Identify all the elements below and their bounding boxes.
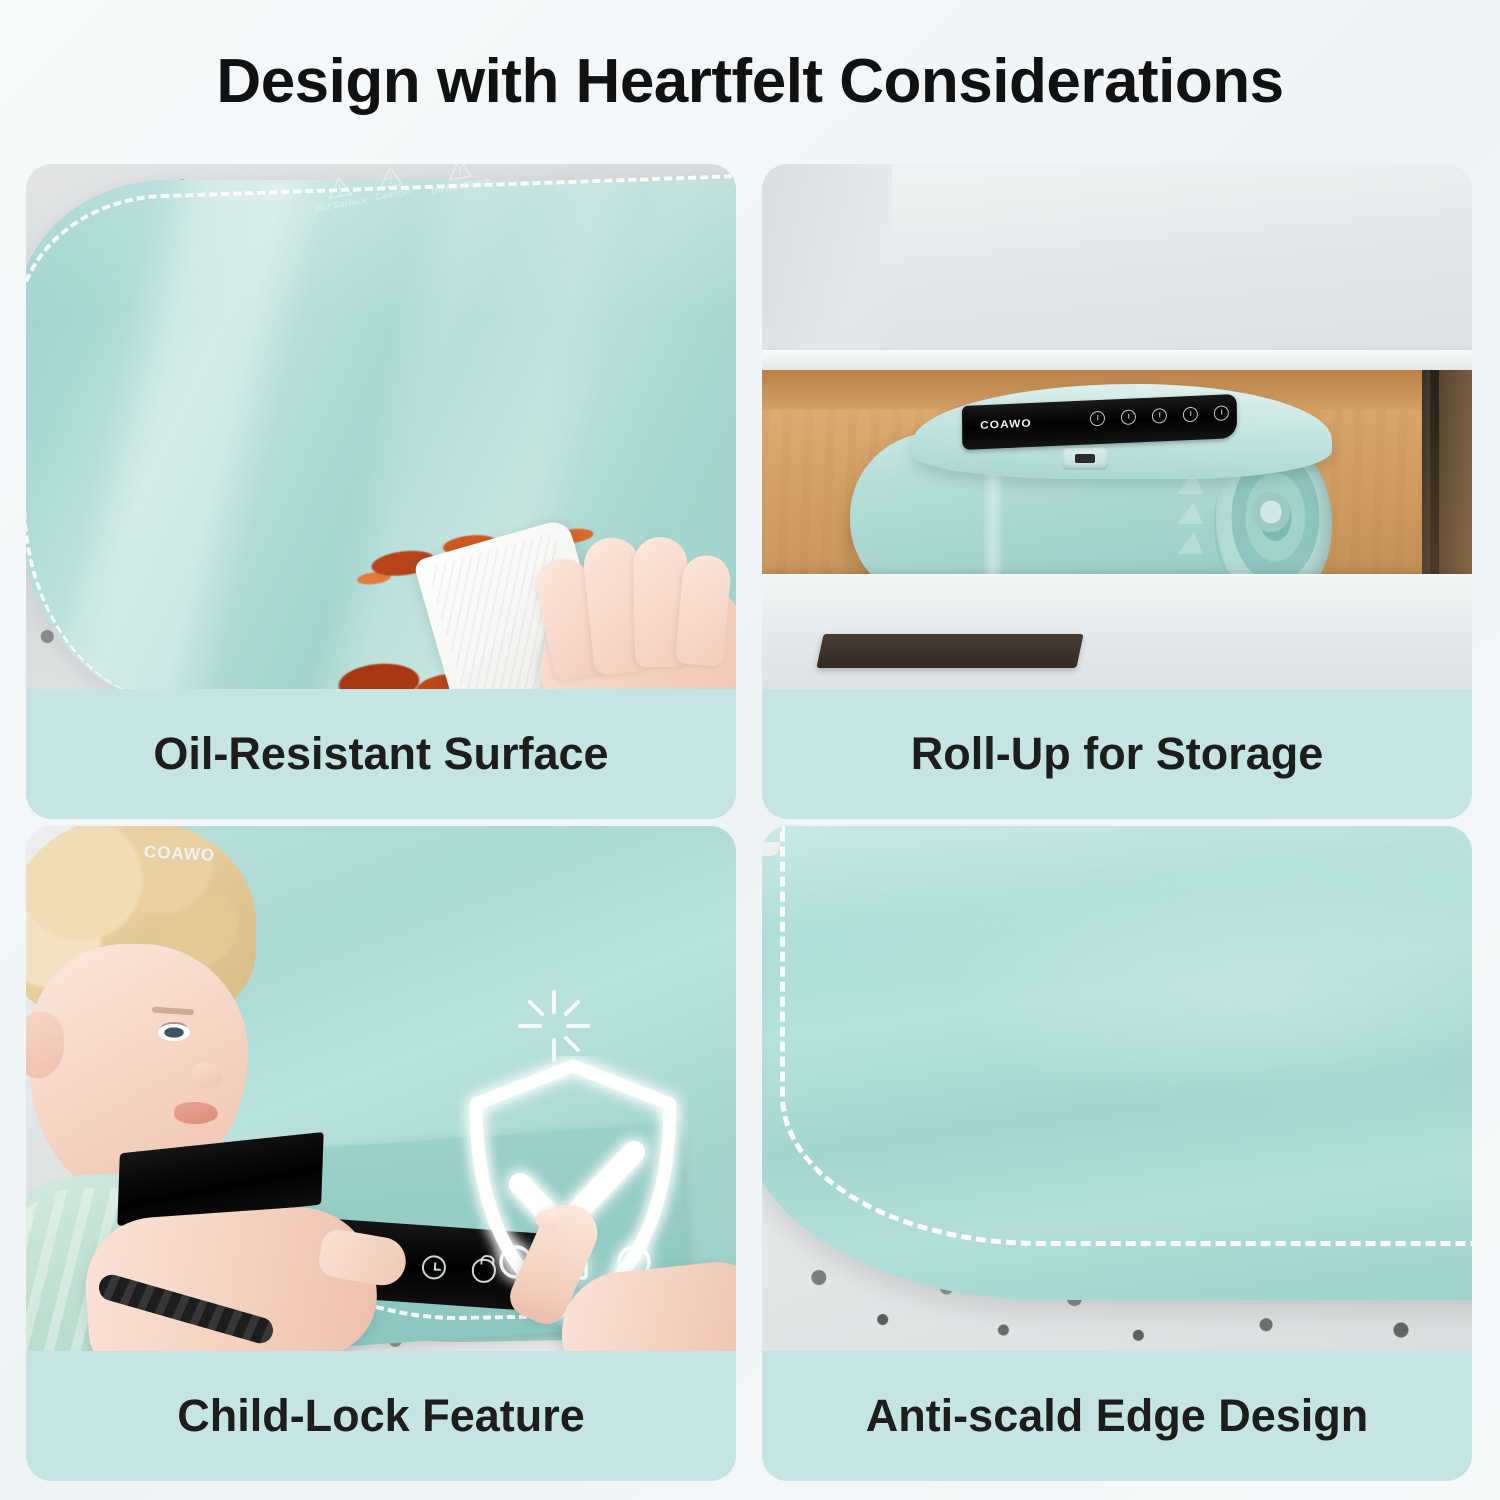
feature-panel-oil-resistant: Hot Surface Caution Do Not Touch bbox=[26, 164, 736, 819]
mat-stitch-line bbox=[780, 826, 1472, 1246]
brand-logo: COAWO bbox=[144, 842, 216, 866]
page-title: Design with Heartfelt Considerations bbox=[0, 46, 1500, 117]
temperature-icon[interactable] bbox=[1183, 407, 1198, 423]
warning-triangle-glyph bbox=[326, 174, 353, 201]
caption-band: Anti-scald Edge Design bbox=[762, 1351, 1472, 1481]
toddler-mouth bbox=[174, 1102, 218, 1124]
photo-anti-scald-edge bbox=[762, 826, 1472, 1351]
feature-panel-child-lock: COAWO bbox=[26, 826, 736, 1481]
drawer-right-gap bbox=[1422, 370, 1472, 578]
toddler-nose bbox=[192, 1062, 222, 1088]
caption-band: Child-Lock Feature bbox=[26, 1351, 736, 1481]
cabinet-front-upper bbox=[762, 164, 1472, 364]
infographic-root: Design with Heartfelt Considerations Hot… bbox=[0, 0, 1500, 1500]
drawer-front-lower bbox=[762, 574, 1472, 689]
panel-caption: Oil-Resistant Surface bbox=[153, 728, 608, 780]
cabinet-edge bbox=[762, 350, 1472, 372]
power-icon[interactable] bbox=[1214, 405, 1229, 421]
panel-caption: Roll-Up for Storage bbox=[911, 728, 1324, 780]
toddler-eye bbox=[158, 1024, 190, 1041]
drawer-handle[interactable] bbox=[816, 634, 1083, 668]
adult-hand-pointing bbox=[496, 1216, 736, 1351]
warning-triangle-icon bbox=[1177, 502, 1207, 524]
clock-icon[interactable] bbox=[1121, 409, 1136, 425]
warning-triangle-icon bbox=[1177, 532, 1207, 554]
feature-panel-roll-up-storage: COAWO Roll-Up for Storage bbox=[762, 164, 1472, 819]
lock-icon[interactable] bbox=[1090, 411, 1105, 427]
brand-logo: COAWO bbox=[980, 417, 1032, 432]
caption-band: Oil-Resistant Surface bbox=[26, 689, 736, 819]
hand-finger bbox=[675, 553, 732, 667]
photo-roll-up-storage: COAWO bbox=[762, 164, 1472, 689]
warning-triangle-icon: Caution bbox=[373, 164, 410, 202]
sparkle-icon bbox=[514, 986, 594, 1066]
mat-latch bbox=[1062, 448, 1108, 470]
photo-child-lock: COAWO bbox=[26, 826, 736, 1351]
caption-band: Roll-Up for Storage bbox=[762, 689, 1472, 819]
warm-icon[interactable] bbox=[1152, 408, 1167, 424]
hand-palm bbox=[556, 1258, 736, 1351]
control-icon-row bbox=[1090, 405, 1229, 426]
photo-oil-resistant: Hot Surface Caution Do Not Touch bbox=[26, 164, 736, 689]
feature-panel-anti-scald-edge: Anti-scald Edge Design bbox=[762, 826, 1472, 1481]
panel-caption: Child-Lock Feature bbox=[177, 1390, 585, 1442]
panel-caption: Anti-scald Edge Design bbox=[866, 1390, 1369, 1442]
